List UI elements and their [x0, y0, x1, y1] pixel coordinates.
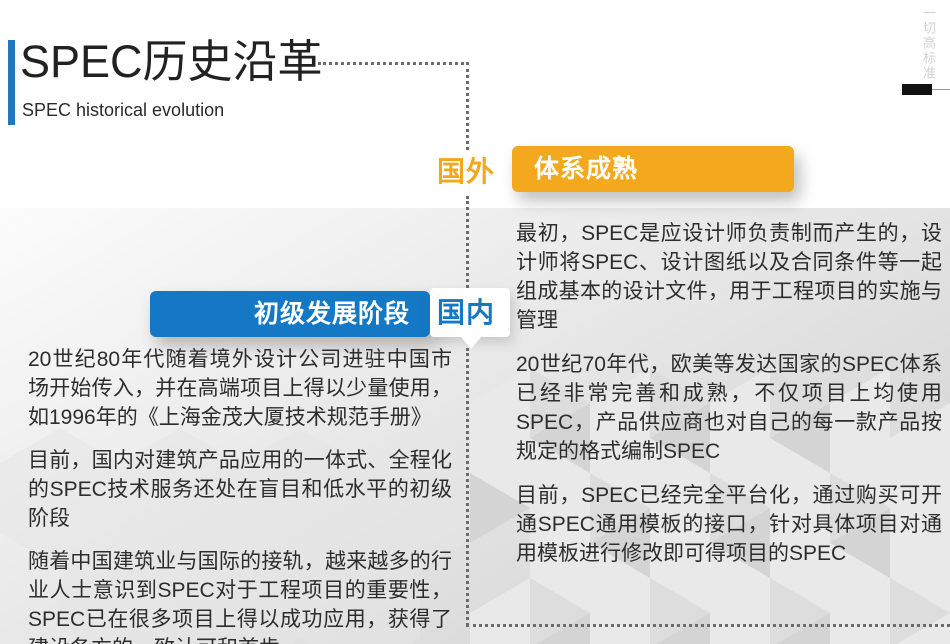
label-domestic-tag-box: 国内 — [430, 288, 510, 337]
page-title: SPEC历史沿革 — [20, 33, 323, 91]
connector-dotted-horizontal-bottom — [466, 624, 950, 627]
banner-foreign-label: 体系成熟 — [534, 153, 638, 186]
banner-domestic-label: 初级发展阶段 — [254, 298, 410, 331]
connector-dotted-horizontal-top — [318, 62, 469, 65]
connector-dotted-vertical-lower — [466, 348, 469, 626]
corner-line-mark — [932, 89, 950, 90]
paragraph: 最初，SPEC是应设计师负责制而产生的，设计师将SPEC、设计图纸以及合同条件等… — [516, 219, 942, 335]
banner-foreign[interactable]: 体系成熟 — [512, 146, 794, 192]
paragraph: 目前，SPEC已经完全平台化，通过购买可开通SPEC通用模板的接口，针对具体项目… — [516, 481, 942, 568]
paragraph: 随着中国建筑业与国际的接轨，越来越多的行业人士意识到SPEC对于工程项目的重要性… — [28, 547, 452, 644]
label-domestic-tag: 国内 — [437, 295, 495, 331]
paragraph: 目前，国内对建筑产品应用的一体式、全程化的SPEC技术服务还处在盲目和低水平的初… — [28, 446, 452, 533]
column-domestic-text: 20世纪80年代随着境外设计公司进驻中国市场开始传入，并在高端项目上得以少量使用… — [28, 345, 452, 644]
page-subtitle: SPEC historical evolution — [22, 97, 224, 123]
slide-root: SPEC历史沿革 SPEC historical evolution 一切高标准 — [0, 0, 950, 644]
corner-slogan-text: 一切高标准 — [918, 6, 936, 81]
label-foreign-tag: 国外 — [437, 152, 495, 192]
paragraph: 20世纪70年代，欧美等发达国家的SPEC体系已经非常完善和成熟，不仅项目上均使… — [516, 350, 942, 466]
banner-domestic[interactable]: 初级发展阶段 — [150, 291, 430, 337]
corner-block-mark — [902, 84, 932, 95]
connector-dotted-vertical-upper — [466, 62, 469, 150]
title-accent-bar — [8, 40, 15, 125]
callout-tail — [460, 336, 482, 349]
column-foreign-text: 最初，SPEC是应设计师负责制而产生的，设计师将SPEC、设计图纸以及合同条件等… — [516, 219, 942, 583]
connector-dotted-vertical-middle — [466, 196, 469, 288]
paragraph: 20世纪80年代随着境外设计公司进驻中国市场开始传入，并在高端项目上得以少量使用… — [28, 345, 452, 432]
